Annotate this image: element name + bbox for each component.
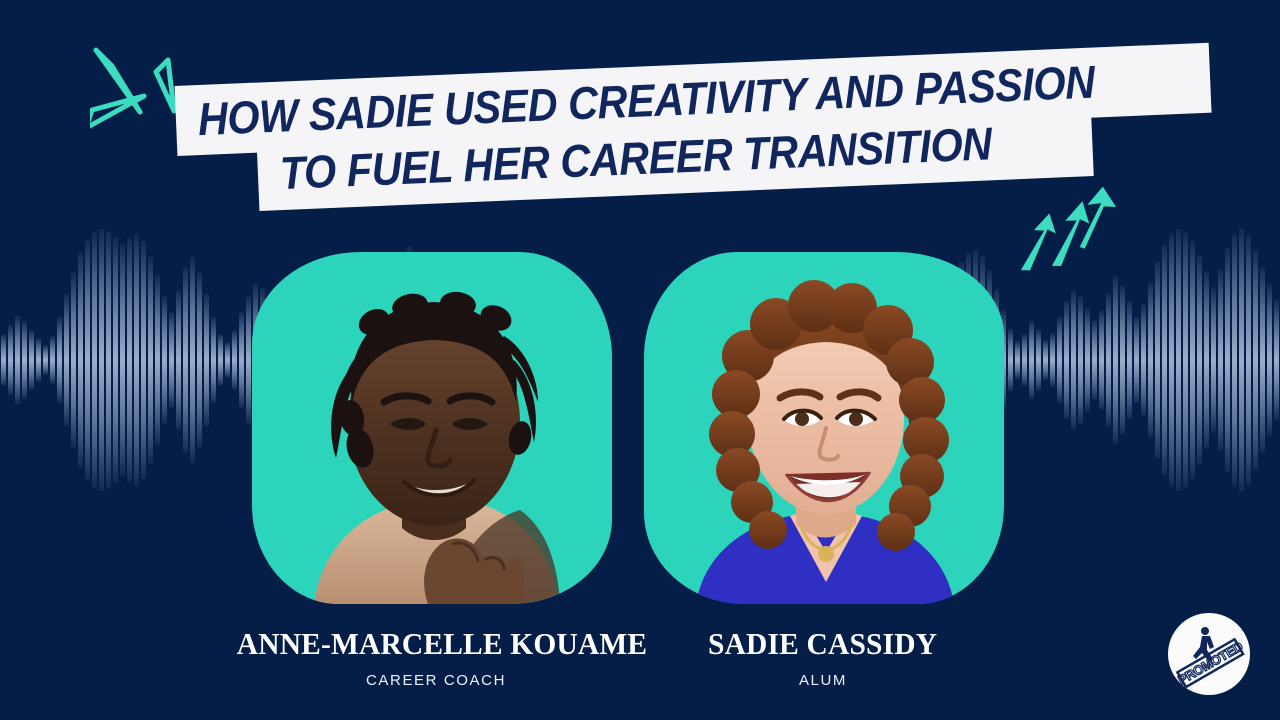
title-block: HOW SADIE USED CREATIVITY AND PASSION TO… [0, 62, 1280, 212]
person-1-name: ANNE-MARCELLE KOUAME [226, 626, 646, 662]
promoted-logo-mark: PROMOTED [1168, 613, 1250, 695]
portrait-card-2 [644, 252, 1004, 604]
guest-portraits [0, 252, 1280, 612]
person-1-role: CAREER COACH [226, 672, 646, 689]
portrait-photo-2 [644, 252, 1004, 604]
poster-canvas: HOW SADIE USED CREATIVITY AND PASSION TO… [0, 0, 1280, 720]
portrait-photo-1 [252, 252, 612, 604]
portrait-card-1 [252, 252, 612, 604]
caption-person-1: ANNE-MARCELLE KOUAME CAREER COACH [226, 626, 646, 689]
promoted-logo[interactable]: PROMOTED [1168, 613, 1250, 695]
portrait-frame-2 [644, 252, 1004, 604]
person-2-role: ALUM [613, 672, 1033, 689]
caption-person-2: SADIE CASSIDY ALUM [613, 626, 1033, 689]
portrait-frame-1 [252, 252, 612, 604]
person-2-name: SADIE CASSIDY [613, 626, 1033, 662]
